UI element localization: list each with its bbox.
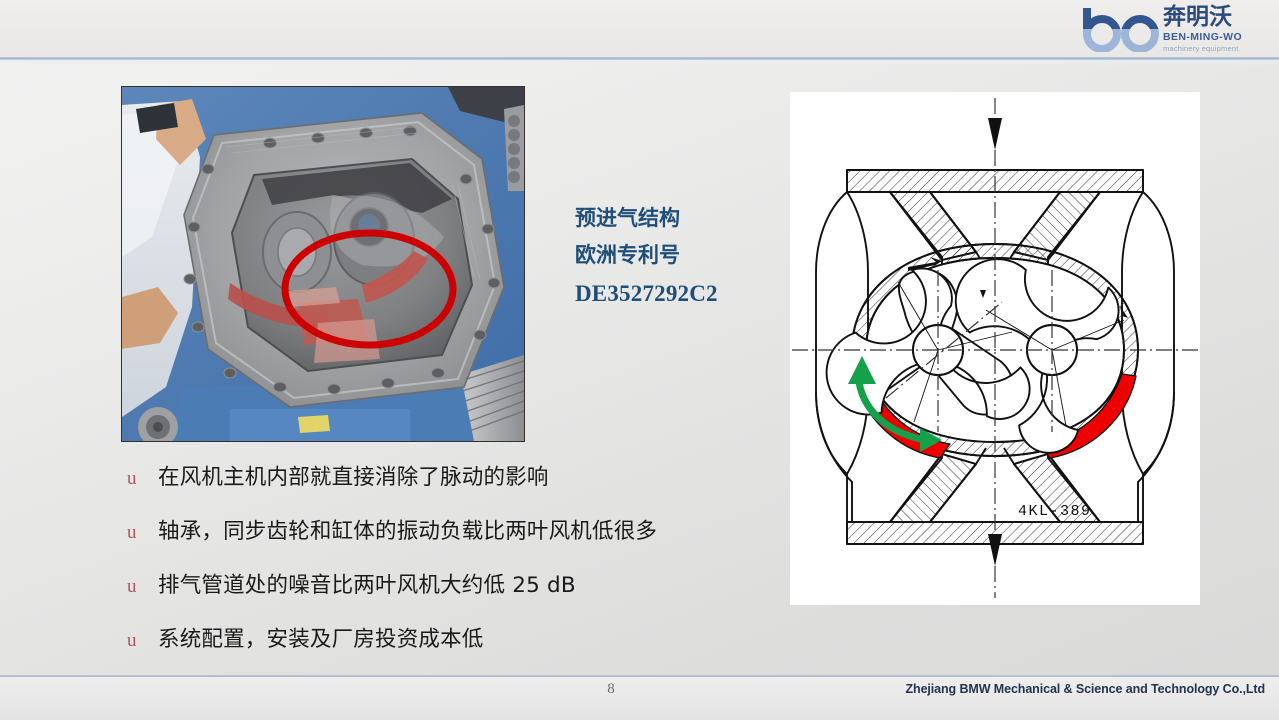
list-item: u 轴承，同步齿轮和缸体的振动负载比两叶风机低很多 [118,514,768,568]
diagram-part-label: 4KL-389 [1018,503,1092,520]
logo-chinese-name: 奔明沃 [1163,6,1242,29]
bo-monogram-icon [1083,6,1161,52]
blower-casing-photo [121,86,525,442]
bullet-list: u 在风机主机内部就直接消除了脉动的影响 u 轴承，同步齿轮和缸体的振动负载比两… [118,460,768,676]
caption-patent-number: DE3527292C2 [575,274,790,314]
logo-english-name: BEN-MING-WO [1163,32,1242,43]
caption-line-1: 预进气结构 [575,200,790,237]
blower-cross-section-diagram: 4KL-389 [790,92,1200,605]
list-item: u 排气管道处的噪音比两叶风机大约低 25 dB [118,568,768,622]
bullet-text: 在风机主机内部就直接消除了脉动的影响 [158,460,549,491]
bullet-marker-icon: u [118,522,158,544]
bullet-text: 系统配置，安装及厂房投资成本低 [158,622,484,653]
slide: 奔明沃 BEN-MING-WO machinery equipment [0,0,1279,720]
logo-tagline: machinery equipment [1163,45,1242,53]
caption-line-2: 欧洲专利号 [575,237,790,274]
list-item: u 在风机主机内部就直接消除了脉动的影响 [118,460,768,514]
bullet-text: 轴承，同步齿轮和缸体的振动负载比两叶风机低很多 [158,514,657,545]
header-divider-shadow [0,60,1279,66]
patent-caption: 预进气结构 欧洲专利号 DE3527292C2 [575,200,790,314]
list-item: u 系统配置，安装及厂房投资成本低 [118,622,768,676]
bullet-marker-icon: u [118,468,158,490]
bullet-marker-icon: u [118,630,158,652]
company-logo[interactable]: 奔明沃 BEN-MING-WO machinery equipment [1083,3,1277,55]
bullet-marker-icon: u [118,576,158,598]
bullet-text: 排气管道处的噪音比两叶风机大约低 25 dB [158,568,576,599]
footer-company-name: Zhejiang BMW Mechanical & Science and Te… [906,682,1266,696]
logo-wordmark: 奔明沃 BEN-MING-WO machinery equipment [1163,6,1242,52]
page-number: 8 [596,681,626,698]
